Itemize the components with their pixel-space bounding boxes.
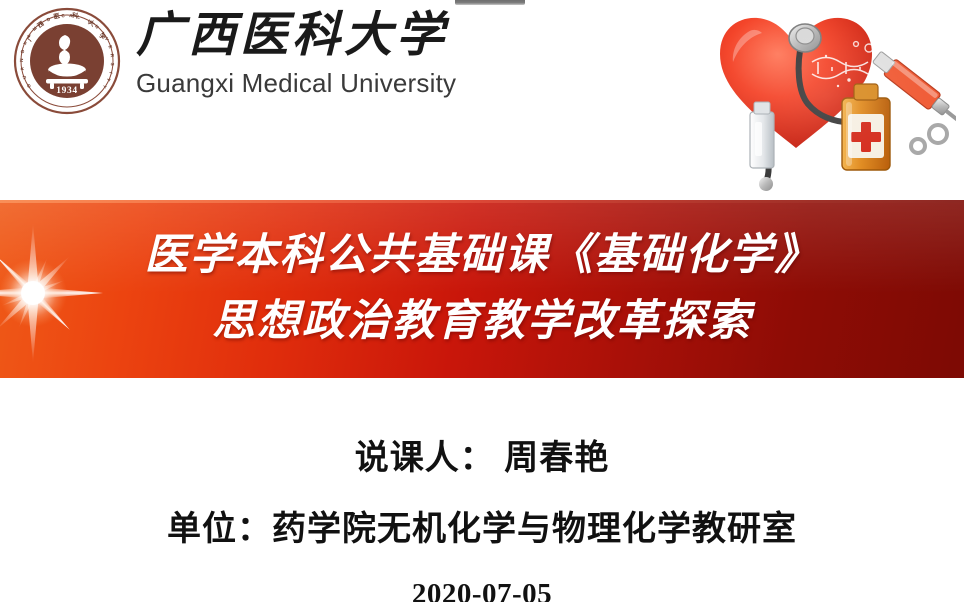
svg-text:S: S bbox=[110, 62, 115, 65]
banner-title-line-1: 医学本科公共基础课《基础化学》 bbox=[145, 223, 820, 289]
unit-line: 单位：药学院无机化学与物理化学教研室 bbox=[167, 501, 797, 550]
presenter-info-block: 说课人： 周春艳 单位：药学院无机化学与物理化学教研室 2020-07-05 bbox=[0, 378, 964, 602]
slide-header: 1934 广 西 医 科 大 学 G U A N G X I bbox=[0, 0, 964, 200]
date-line: 2020-07-05 bbox=[412, 578, 552, 602]
banner-title-line-2: 思想政治教育教学改革探索 bbox=[212, 289, 752, 355]
svg-text:1934: 1934 bbox=[56, 86, 77, 96]
university-name-cn: 广西医科大学 bbox=[136, 8, 556, 64]
presentation-title-slide: 1934 广 西 医 科 大 学 G U A N G X I bbox=[0, 0, 964, 602]
university-name-block: 广西医科大学 Guangxi Medical University bbox=[136, 8, 556, 100]
presenter-line: 说课人： 周春艳 bbox=[355, 430, 610, 479]
university-crest-icon: 1934 广 西 医 科 大 学 G U A N G X I bbox=[13, 7, 121, 115]
banner-text-block: 医学本科公共基础课《基础化学》 思想政治教育教学改革探索 bbox=[0, 200, 964, 378]
title-banner: 医学本科公共基础课《基础化学》 思想政治教育教学改革探索 bbox=[0, 200, 964, 378]
university-name-en: Guangxi Medical University bbox=[136, 66, 556, 100]
heart-stethoscope-medicine-icon bbox=[706, 0, 956, 191]
